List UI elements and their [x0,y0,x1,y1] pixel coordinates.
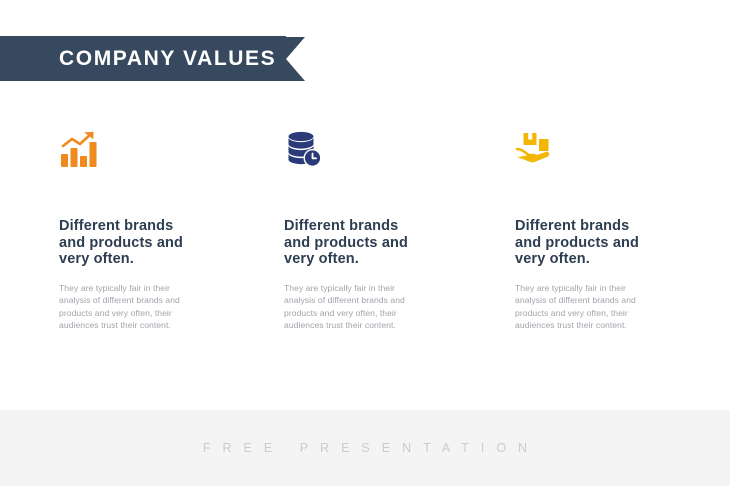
footer-bar: FREE PRESENTATION [0,410,730,486]
slide: COMPANY VALUES Different brands and prod… [0,0,730,486]
value-heading-3: Different brands and products and very o… [515,218,690,268]
value-columns: Different brands and products and very o… [0,130,730,332]
bar-chart-growth-icon [59,130,230,176]
value-body-2: They are typically fair in their analysi… [284,282,434,332]
page-title: COMPANY VALUES [59,48,276,69]
hand-holding-box-icon [515,130,690,176]
value-column-2: Different brands and products and very o… [230,130,460,332]
value-body-3: They are typically fair in their analysi… [515,282,665,332]
database-clock-icon [284,130,460,176]
title-banner: COMPANY VALUES [0,36,305,81]
title-banner-arrow [286,37,305,81]
value-column-3: Different brands and products and very o… [460,130,690,332]
footer-text: FREE PRESENTATION [191,441,539,455]
title-banner-body: COMPANY VALUES [0,36,286,81]
value-column-1: Different brands and products and very o… [0,130,230,332]
value-heading-2: Different brands and products and very o… [284,218,460,268]
value-body-1: They are typically fair in their analysi… [59,282,209,332]
value-heading-1: Different brands and products and very o… [59,218,230,268]
